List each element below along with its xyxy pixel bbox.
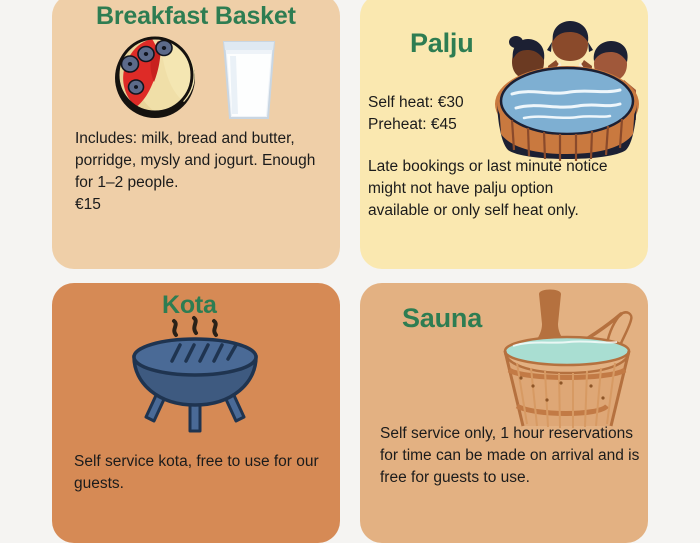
breakfast-bowl-and-milk-glass-icon: [102, 32, 292, 120]
card-breakfast-basket[interactable]: Breakfast Basket: [52, 0, 340, 269]
card-body-palju: Late bookings or last minute notice migh…: [368, 156, 618, 222]
card-sauna[interactable]: Sauna: [360, 283, 648, 543]
card-body-sauna: Self service only, 1 hour reservations f…: [380, 423, 648, 489]
card-title-sauna: Sauna: [402, 303, 482, 334]
barbecue-grill-icon: [126, 313, 266, 438]
card-palju[interactable]: Palju: [360, 0, 648, 269]
card-kota[interactable]: Kota: [52, 283, 340, 543]
amenities-card-board: Breakfast Basket: [0, 0, 700, 500]
sauna-bucket-with-ladle-icon: [495, 288, 648, 443]
card-body-breakfast-basket: Includes: milk, bread and butter, porrid…: [75, 128, 333, 216]
card-title-palju: Palju: [410, 28, 474, 59]
card-title-breakfast-basket: Breakfast Basket: [96, 2, 296, 31]
hot-tub-with-three-people-icon: [490, 16, 645, 161]
card-body-kota: Self service kota, free to use for our g…: [74, 451, 336, 495]
card-price-palju: Self heat: €30 Preheat: €45: [368, 92, 518, 136]
